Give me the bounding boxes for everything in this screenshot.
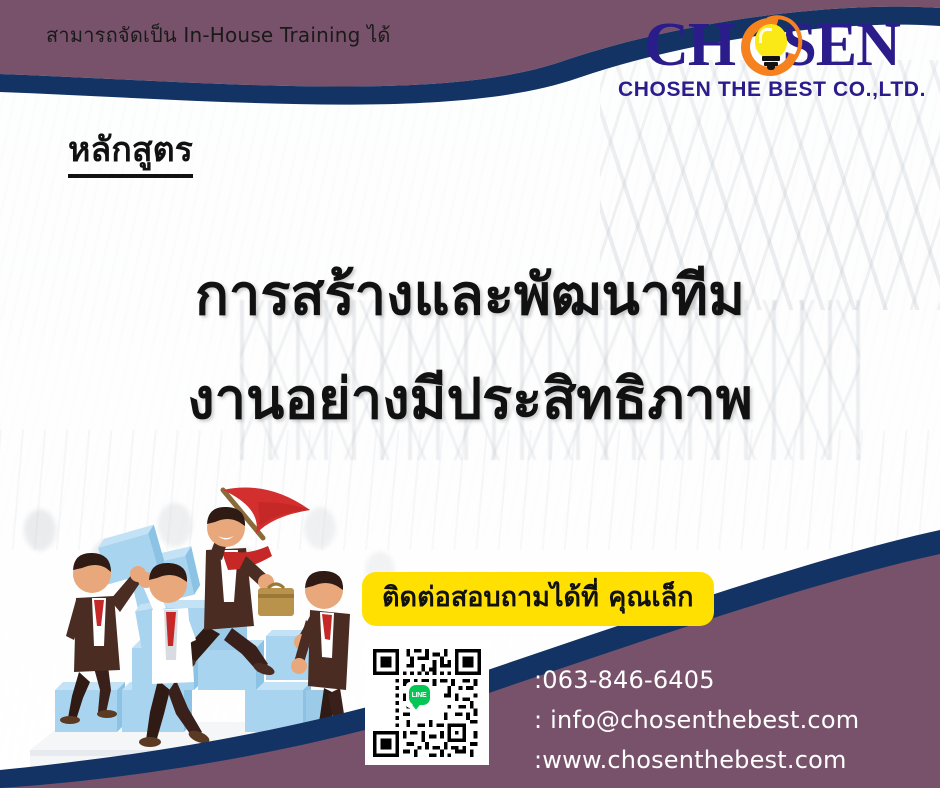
course-title-line-1: การสร้างและพัฒนาทีม bbox=[0, 244, 940, 348]
logo-wordmark: CHOSEN bbox=[612, 14, 932, 76]
lightbulb-base bbox=[762, 56, 780, 61]
contact-badge[interactable]: ติดต่อสอบถามได้ที่ คุณเล็ก bbox=[362, 572, 714, 626]
line-app-icon: LINE bbox=[406, 682, 432, 708]
poster-canvas: สามารถจัดเป็น In-House Training ได้ CHOS… bbox=[0, 0, 940, 788]
course-title: การสร้างและพัฒนาทีม งานอย่างมีประสิทธิภา… bbox=[0, 244, 940, 452]
lightbulb-icon bbox=[739, 16, 805, 78]
contact-details: :063-846-6405 : info@chosenthebest.com :… bbox=[534, 660, 859, 780]
logo-subtitle: CHOSEN THE BEST CO.,LTD. bbox=[612, 78, 932, 102]
course-title-line-2: งานอย่างมีประสิทธิภาพ bbox=[0, 348, 940, 452]
logo-wordmark-pre: CH bbox=[644, 11, 735, 79]
header-banner-text: สามารถจัดเป็น In-House Training ได้ bbox=[46, 19, 391, 51]
line-icon-label: LINE bbox=[412, 692, 427, 699]
course-label: หลักสูตร bbox=[68, 128, 193, 178]
contact-email[interactable]: : info@chosenthebest.com bbox=[534, 700, 859, 740]
line-chat-bubble: LINE bbox=[409, 685, 430, 705]
contact-website[interactable]: :www.chosenthebest.com bbox=[534, 740, 859, 780]
lightbulb-shine bbox=[759, 28, 772, 43]
company-logo: CHOSEN CHOSEN THE BEST CO.,LTD. bbox=[612, 14, 932, 114]
contact-phone[interactable]: :063-846-6405 bbox=[534, 660, 859, 700]
lightbulb-tip bbox=[767, 66, 775, 70]
line-qr-code[interactable]: LINE bbox=[365, 641, 489, 765]
